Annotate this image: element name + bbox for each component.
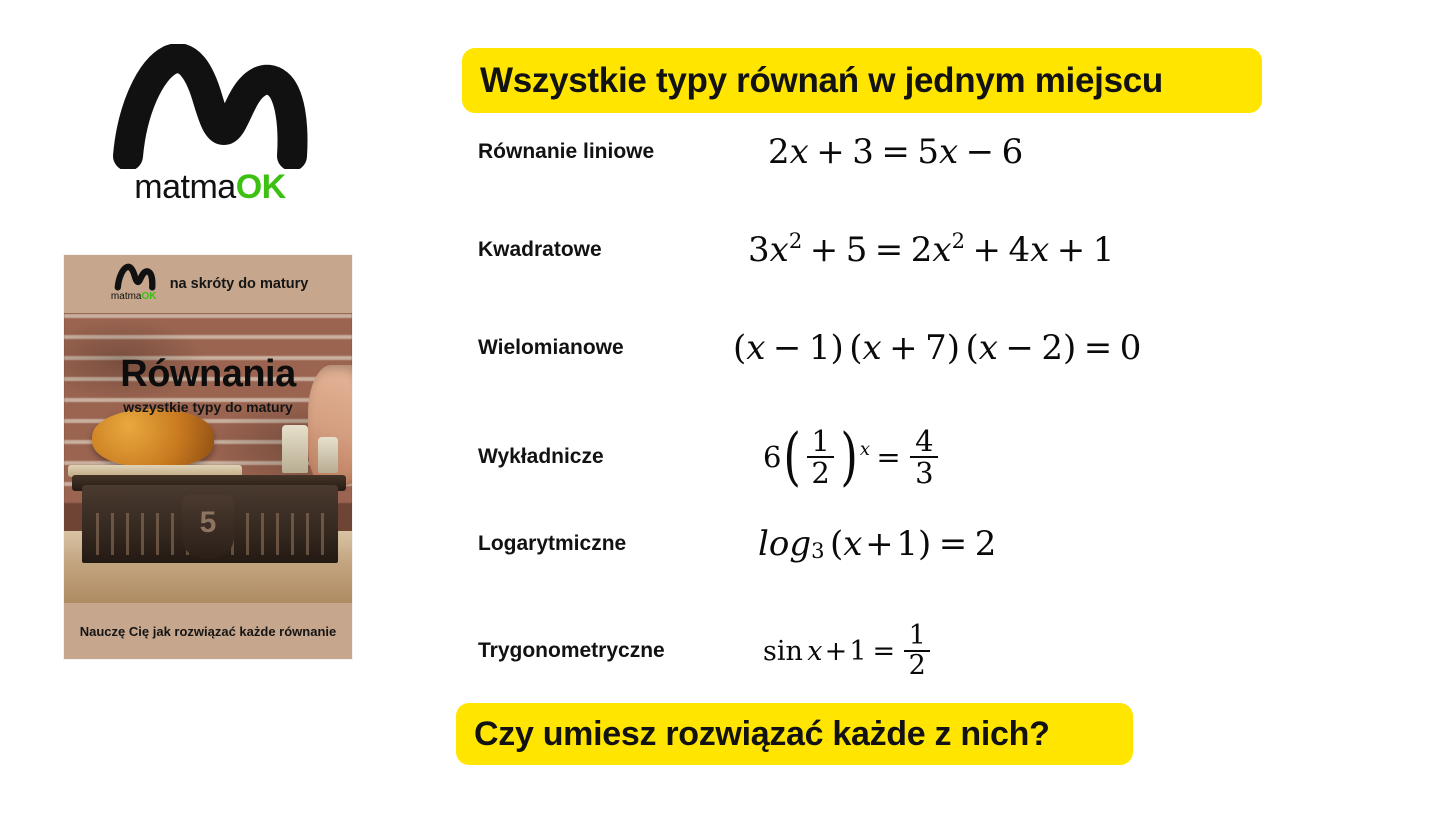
equation-row-quadratic: Kwadratowe 3x2+5=2x2+4x+1 bbox=[478, 230, 1318, 270]
equation-row-trigonometric: Trygonometryczne sinx+1=12 bbox=[478, 622, 1318, 681]
equation-row-logarithmic: Logarytmiczne log3(x+1)=2 bbox=[478, 524, 1318, 564]
operator: + bbox=[810, 230, 839, 270]
book-footer-text: Nauczę Cię jak rozwiązać każde równanie bbox=[80, 624, 337, 639]
constant: 2 bbox=[975, 524, 997, 564]
fraction-one-half: 12 bbox=[904, 622, 930, 681]
variable: x bbox=[932, 230, 951, 270]
equation-formula-linear: 2x+3=5x−6 bbox=[768, 132, 1023, 172]
book-subtitle: wszystkie typy do matury bbox=[64, 399, 352, 415]
book-title: Równania bbox=[64, 355, 352, 393]
book-mini-logo: matmaOK bbox=[108, 261, 160, 307]
constant: 1 bbox=[896, 524, 918, 564]
equation-formula-quadratic: 3x2+5=2x2+4x+1 bbox=[748, 230, 1114, 270]
operator: + bbox=[1057, 230, 1086, 270]
bread-loaf bbox=[92, 409, 214, 467]
left-paren: ( bbox=[733, 328, 746, 368]
fraction-one-half: 12 bbox=[807, 426, 835, 489]
equation-formula-polynomial: (x−1)(x+7)(x−2)=0 bbox=[733, 328, 1141, 368]
equation-row-polynomial: Wielomianowe (x−1)(x+7)(x−2)=0 bbox=[478, 328, 1318, 368]
constant: 6 bbox=[1002, 132, 1024, 172]
book-header-tagline: na skróty do matury bbox=[170, 276, 309, 292]
brand-logo: matmaOK bbox=[110, 44, 310, 219]
right-paren: ) bbox=[947, 328, 960, 368]
variable: x bbox=[746, 328, 765, 368]
constant: 3 bbox=[852, 132, 874, 172]
variable: x bbox=[807, 636, 822, 667]
equals-sign: = bbox=[881, 132, 910, 172]
equals-sign: = bbox=[939, 524, 968, 564]
equation-label-quadratic: Kwadratowe bbox=[478, 238, 733, 262]
coefficient: 2 bbox=[911, 230, 933, 270]
denominator: 2 bbox=[807, 456, 835, 488]
operator: − bbox=[966, 132, 995, 172]
denominator: 3 bbox=[910, 456, 938, 488]
left-paren-large: ( bbox=[784, 438, 802, 477]
equation-label-polynomial: Wielomianowe bbox=[478, 336, 733, 360]
brand-wordmark-accent: OK bbox=[236, 168, 286, 206]
stylized-m-logo-icon-small bbox=[114, 263, 156, 291]
scale-weight-small bbox=[318, 437, 338, 473]
variable: x bbox=[979, 328, 998, 368]
operator: + bbox=[972, 230, 1001, 270]
book-cover: matmaOK na skróty do matury 5 Równania w… bbox=[64, 255, 352, 659]
brand-wordmark-primary: matma bbox=[134, 168, 235, 206]
book-title-block: Równania wszystkie typy do matury bbox=[64, 355, 352, 415]
coefficient: 2 bbox=[768, 132, 790, 172]
numerator: 1 bbox=[904, 622, 930, 650]
bottom-question-banner: Czy umiesz rozwiązać każde z nich? bbox=[456, 703, 1133, 765]
book-mini-wordmark: matmaOK bbox=[108, 292, 160, 302]
variable: x bbox=[843, 524, 862, 564]
operator: + bbox=[816, 132, 845, 172]
denominator: 2 bbox=[904, 650, 930, 680]
variable: x bbox=[790, 132, 809, 172]
right-paren: ) bbox=[831, 328, 844, 368]
variable: x bbox=[863, 328, 882, 368]
scale-weight-marking: 5 bbox=[182, 495, 234, 559]
equation-formula-exponential: 6(12)x=43 bbox=[763, 426, 942, 489]
bottom-question-text: Czy umiesz rozwiązać każde z nich? bbox=[474, 715, 1050, 754]
book-mini-wordmark-accent: OK bbox=[141, 291, 156, 302]
equation-label-trigonometric: Trygonometryczne bbox=[478, 639, 733, 663]
equals-sign: = bbox=[875, 230, 904, 270]
constant: 5 bbox=[846, 230, 868, 270]
operator: − bbox=[773, 328, 802, 368]
left-paren: ( bbox=[830, 524, 843, 564]
brand-wordmark: matmaOK bbox=[110, 170, 310, 204]
equals-sign: = bbox=[876, 440, 900, 474]
numerator: 1 bbox=[807, 426, 835, 456]
scale-weight-large bbox=[282, 425, 308, 473]
equation-label-logarithmic: Logarytmiczne bbox=[478, 532, 733, 556]
constant: 0 bbox=[1120, 328, 1142, 368]
sin-function: sin bbox=[763, 636, 803, 667]
constant: 1 bbox=[849, 636, 866, 667]
book-cover-footer: Nauczę Cię jak rozwiązać każde równanie bbox=[64, 603, 352, 659]
left-column: matmaOK matmaOK na skróty do matury bbox=[0, 0, 420, 813]
coefficient: 6 bbox=[763, 440, 781, 474]
fraction-four-thirds: 43 bbox=[910, 426, 938, 489]
variable: x bbox=[939, 132, 958, 172]
equals-sign: = bbox=[1084, 328, 1113, 368]
right-paren-large: ) bbox=[840, 438, 858, 477]
book-mini-wordmark-primary: matma bbox=[111, 291, 142, 302]
constant: 2 bbox=[1041, 328, 1063, 368]
variable: x bbox=[770, 230, 789, 270]
equation-label-exponential: Wykładnicze bbox=[478, 445, 733, 469]
coefficient: 3 bbox=[748, 230, 770, 270]
equation-list: Równanie liniowe 2x+3=5x−6 Kwadratowe 3x… bbox=[478, 132, 1318, 692]
equation-formula-trigonometric: sinx+1=12 bbox=[763, 622, 933, 681]
constant: 7 bbox=[925, 328, 947, 368]
book-cover-header: matmaOK na skróty do matury bbox=[64, 255, 352, 313]
operator: + bbox=[825, 636, 848, 667]
equals-sign: = bbox=[873, 636, 896, 667]
coefficient: 5 bbox=[917, 132, 939, 172]
constant: 1 bbox=[1093, 230, 1115, 270]
right-paren: ) bbox=[1063, 328, 1076, 368]
operator: + bbox=[889, 328, 918, 368]
numerator: 4 bbox=[910, 426, 938, 456]
equation-row-exponential: Wykładnicze 6(12)x=43 bbox=[478, 426, 1318, 489]
equation-formula-logarithmic: log3(x+1)=2 bbox=[758, 524, 996, 564]
stylized-m-logo-icon bbox=[110, 44, 310, 169]
top-headline-banner: Wszystkie typy równań w jednym miejscu bbox=[462, 48, 1262, 113]
coefficient: 4 bbox=[1008, 230, 1030, 270]
left-paren: ( bbox=[965, 328, 978, 368]
operator: − bbox=[1005, 328, 1034, 368]
constant: 1 bbox=[809, 328, 831, 368]
operator: + bbox=[865, 524, 894, 564]
equation-row-linear: Równanie liniowe 2x+3=5x−6 bbox=[478, 132, 1318, 172]
left-paren: ( bbox=[849, 328, 862, 368]
variable: x bbox=[1030, 230, 1049, 270]
right-paren: ) bbox=[918, 524, 931, 564]
equation-label-linear: Równanie liniowe bbox=[478, 140, 733, 164]
log-function: log bbox=[758, 524, 811, 564]
top-headline-text: Wszystkie typy równań w jednym miejscu bbox=[480, 61, 1163, 101]
